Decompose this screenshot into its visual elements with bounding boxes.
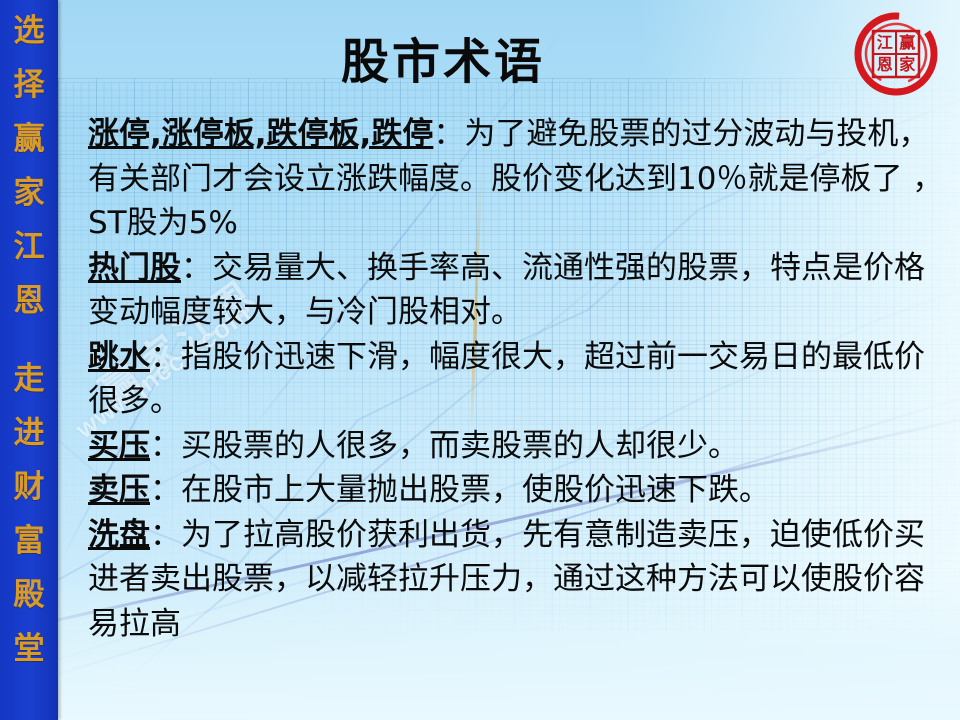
glossary-term-1: 热门股 [88, 250, 181, 286]
slide-canvas: 赢家江恩 www.jnccn.com 选 择 赢 家 江 恩 走 进 财 富 殿… [0, 0, 960, 720]
sidebar-char-11: 堂 [14, 634, 45, 665]
sidebar-char-8: 财 [14, 472, 45, 503]
glossary-entry-2: 跳水：指股价迅速下滑，幅度很大，超过前一交易日的最低价很多。 [88, 335, 948, 424]
glossary-colon-4: ： [150, 472, 181, 508]
glossary-entry-3: 买压：买股票的人很多，而卖股票的人却很少。 [88, 424, 948, 469]
sidebar-char-5: 恩 [14, 286, 45, 317]
brand-seal-logo: 江 赢 恩 家 [852, 10, 940, 98]
glossary-definition-4: 在股市上大量抛出股票，使股价迅速下跌。 [181, 472, 770, 508]
glossary-colon-5: ： [150, 517, 181, 553]
glossary-colon-3: ： [150, 428, 181, 464]
glossary-colon-0: ： [433, 116, 464, 152]
glossary-definition-3: 买股票的人很多，而卖股票的人却很少。 [181, 428, 739, 464]
glossary-term-4: 卖压 [88, 472, 150, 508]
seal-char-2: 恩 [874, 55, 896, 77]
seal-char-3: 家 [897, 55, 919, 77]
glossary-term-2: 跳水 [88, 339, 150, 375]
glossary-content: 涨停,涨停板,跌停板,跌停：为了避免股票的过分波动与投机，有关部门才会设立涨跌幅… [88, 112, 948, 646]
left-sidebar-banner: 选 择 赢 家 江 恩 走 进 财 富 殿 堂 [0, 0, 58, 720]
glossary-entry-1: 热门股：交易量大、换手率高、流通性强的股票，特点是价格变动幅度较大，与冷门股相对… [88, 246, 948, 335]
glossary-term-0: 涨停,涨停板,跌停板,跌停 [88, 116, 433, 152]
seal-char-1: 赢 [897, 32, 919, 54]
glossary-definition-5: 为了拉高股价获利出货，先有意制造卖压，迫使低价买进者卖出股票，以减轻拉升压力，通… [88, 517, 925, 642]
glossary-entry-4: 卖压：在股市上大量抛出股票，使股价迅速下跌。 [88, 468, 948, 513]
glossary-definition-1: 交易量大、换手率高、流通性强的股票，特点是价格变动幅度较大，与冷门股相对。 [88, 250, 925, 331]
glossary-term-3: 买压 [88, 428, 150, 464]
glossary-term-5: 洗盘 [88, 517, 150, 553]
sidebar-char-9: 富 [14, 526, 45, 557]
glossary-colon-2: ： [150, 339, 181, 375]
glossary-entry-0: 涨停,涨停板,跌停板,跌停：为了避免股票的过分波动与投机，有关部门才会设立涨跌幅… [88, 112, 948, 246]
sidebar-character-column: 选 择 赢 家 江 恩 走 进 财 富 殿 堂 [0, 0, 58, 720]
sidebar-char-1: 择 [14, 70, 45, 101]
glossary-definition-2: 指股价迅速下滑，幅度很大，超过前一交易日的最低价很多。 [88, 339, 925, 420]
page-title: 股市术语 [58, 22, 828, 92]
sidebar-char-6: 走 [14, 364, 45, 395]
glossary-colon-1: ： [181, 250, 212, 286]
sidebar-char-4: 江 [14, 232, 45, 263]
sidebar-char-2: 赢 [14, 124, 45, 155]
sidebar-char-10: 殿 [14, 580, 45, 611]
seal-char-0: 江 [874, 32, 896, 54]
seal-character-grid: 江 赢 恩 家 [874, 32, 918, 76]
sidebar-char-7: 进 [14, 418, 45, 449]
glossary-entry-5: 洗盘：为了拉高股价获利出货，先有意制造卖压，迫使低价买进者卖出股票，以减轻拉升压… [88, 513, 948, 647]
sidebar-char-3: 家 [14, 178, 45, 209]
sidebar-char-0: 选 [14, 16, 45, 47]
